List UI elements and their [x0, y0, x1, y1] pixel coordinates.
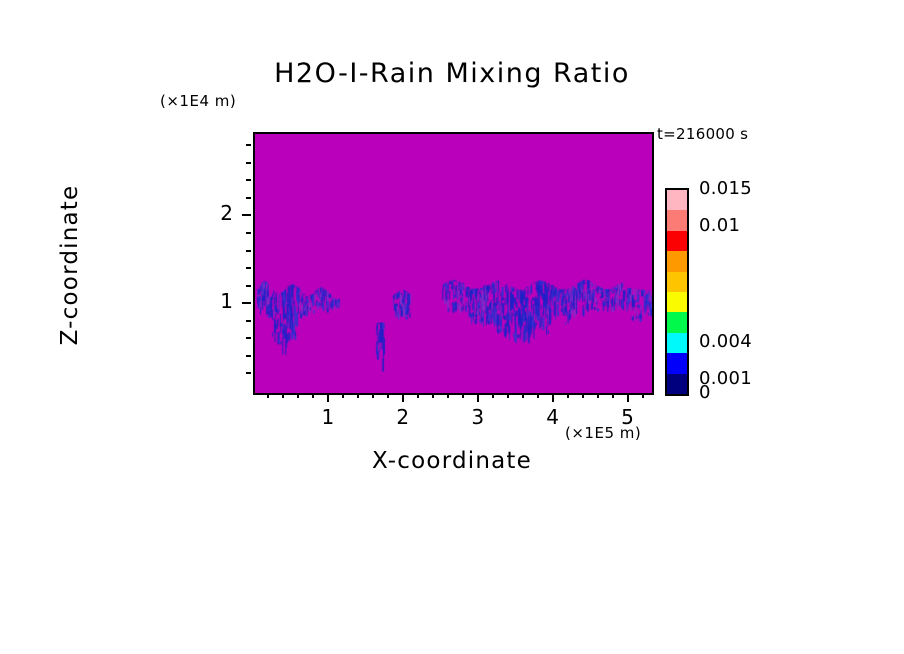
- x-tick-minor: [432, 393, 434, 398]
- colorbar-band: [667, 312, 687, 332]
- x-tick-minor: [267, 393, 269, 398]
- x-tick-major: [402, 393, 404, 402]
- x-tick-minor: [522, 393, 524, 398]
- x-tick-minor: [492, 393, 494, 398]
- x-tick-minor: [417, 393, 419, 398]
- x-axis-unit-label: (×1E5 m): [565, 424, 641, 442]
- x-tick-minor: [642, 393, 644, 398]
- y-tick-minor: [246, 197, 251, 199]
- x-axis-title: X-coordinate: [0, 448, 904, 474]
- y-tick-minor: [246, 320, 251, 322]
- x-tick-minor: [612, 393, 614, 398]
- x-tick-minor: [582, 393, 584, 398]
- y-tick-minor: [246, 285, 251, 287]
- x-tick-minor: [507, 393, 509, 398]
- y-tick-major: [242, 214, 251, 216]
- x-tick-label: 1: [308, 405, 348, 429]
- colorbar-band: [667, 353, 687, 373]
- colorbar-tick-label: 0: [699, 382, 711, 403]
- y-tick-label: 2: [193, 201, 233, 225]
- x-tick-minor: [387, 393, 389, 398]
- y-tick-label: 1: [193, 289, 233, 313]
- y-tick-minor: [246, 144, 251, 146]
- colorbar-band: [667, 374, 687, 394]
- x-tick-major: [627, 393, 629, 402]
- x-tick-minor: [447, 393, 449, 398]
- x-tick-minor: [462, 393, 464, 398]
- x-tick-minor: [372, 393, 374, 398]
- y-tick-minor: [246, 232, 251, 234]
- page-title: H2O-I-Rain Mixing Ratio: [0, 58, 904, 89]
- time-annotation: t=216000 s: [657, 125, 748, 143]
- x-tick-minor: [597, 393, 599, 398]
- colorbar-tick-label: 0.015: [699, 178, 752, 199]
- x-tick-minor: [342, 393, 344, 398]
- x-tick-label: 2: [383, 405, 423, 429]
- colorbar: [665, 188, 689, 396]
- y-axis-unit-label: (×1E4 m): [160, 92, 236, 110]
- x-tick-minor: [567, 393, 569, 398]
- x-tick-major: [477, 393, 479, 402]
- heatmap-canvas: [255, 134, 652, 393]
- x-tick-minor: [537, 393, 539, 398]
- y-tick-minor: [246, 337, 251, 339]
- x-tick-minor: [297, 393, 299, 398]
- colorbar-tick-label: 0.004: [699, 331, 752, 352]
- x-tick-minor: [312, 393, 314, 398]
- y-tick-minor: [246, 267, 251, 269]
- x-tick-minor: [357, 393, 359, 398]
- colorbar-band: [667, 190, 687, 210]
- x-tick-major: [552, 393, 554, 402]
- colorbar-band: [667, 231, 687, 251]
- colorbar-band: [667, 333, 687, 353]
- colorbar-band: [667, 251, 687, 271]
- colorbar-band: [667, 272, 687, 292]
- colorbar-band: [667, 292, 687, 312]
- x-tick-minor: [282, 393, 284, 398]
- y-axis-title: Z-coordinate: [57, 135, 83, 395]
- x-tick-major: [327, 393, 329, 402]
- plot-area: [253, 132, 654, 395]
- y-tick-minor: [246, 355, 251, 357]
- y-tick-minor: [246, 372, 251, 374]
- colorbar-tick-label: 0.01: [699, 215, 740, 236]
- y-tick-minor: [246, 250, 251, 252]
- colorbar-band: [667, 210, 687, 230]
- y-tick-minor: [246, 179, 251, 181]
- y-tick-minor: [246, 162, 251, 164]
- y-tick-major: [242, 302, 251, 304]
- x-tick-label: 3: [458, 405, 498, 429]
